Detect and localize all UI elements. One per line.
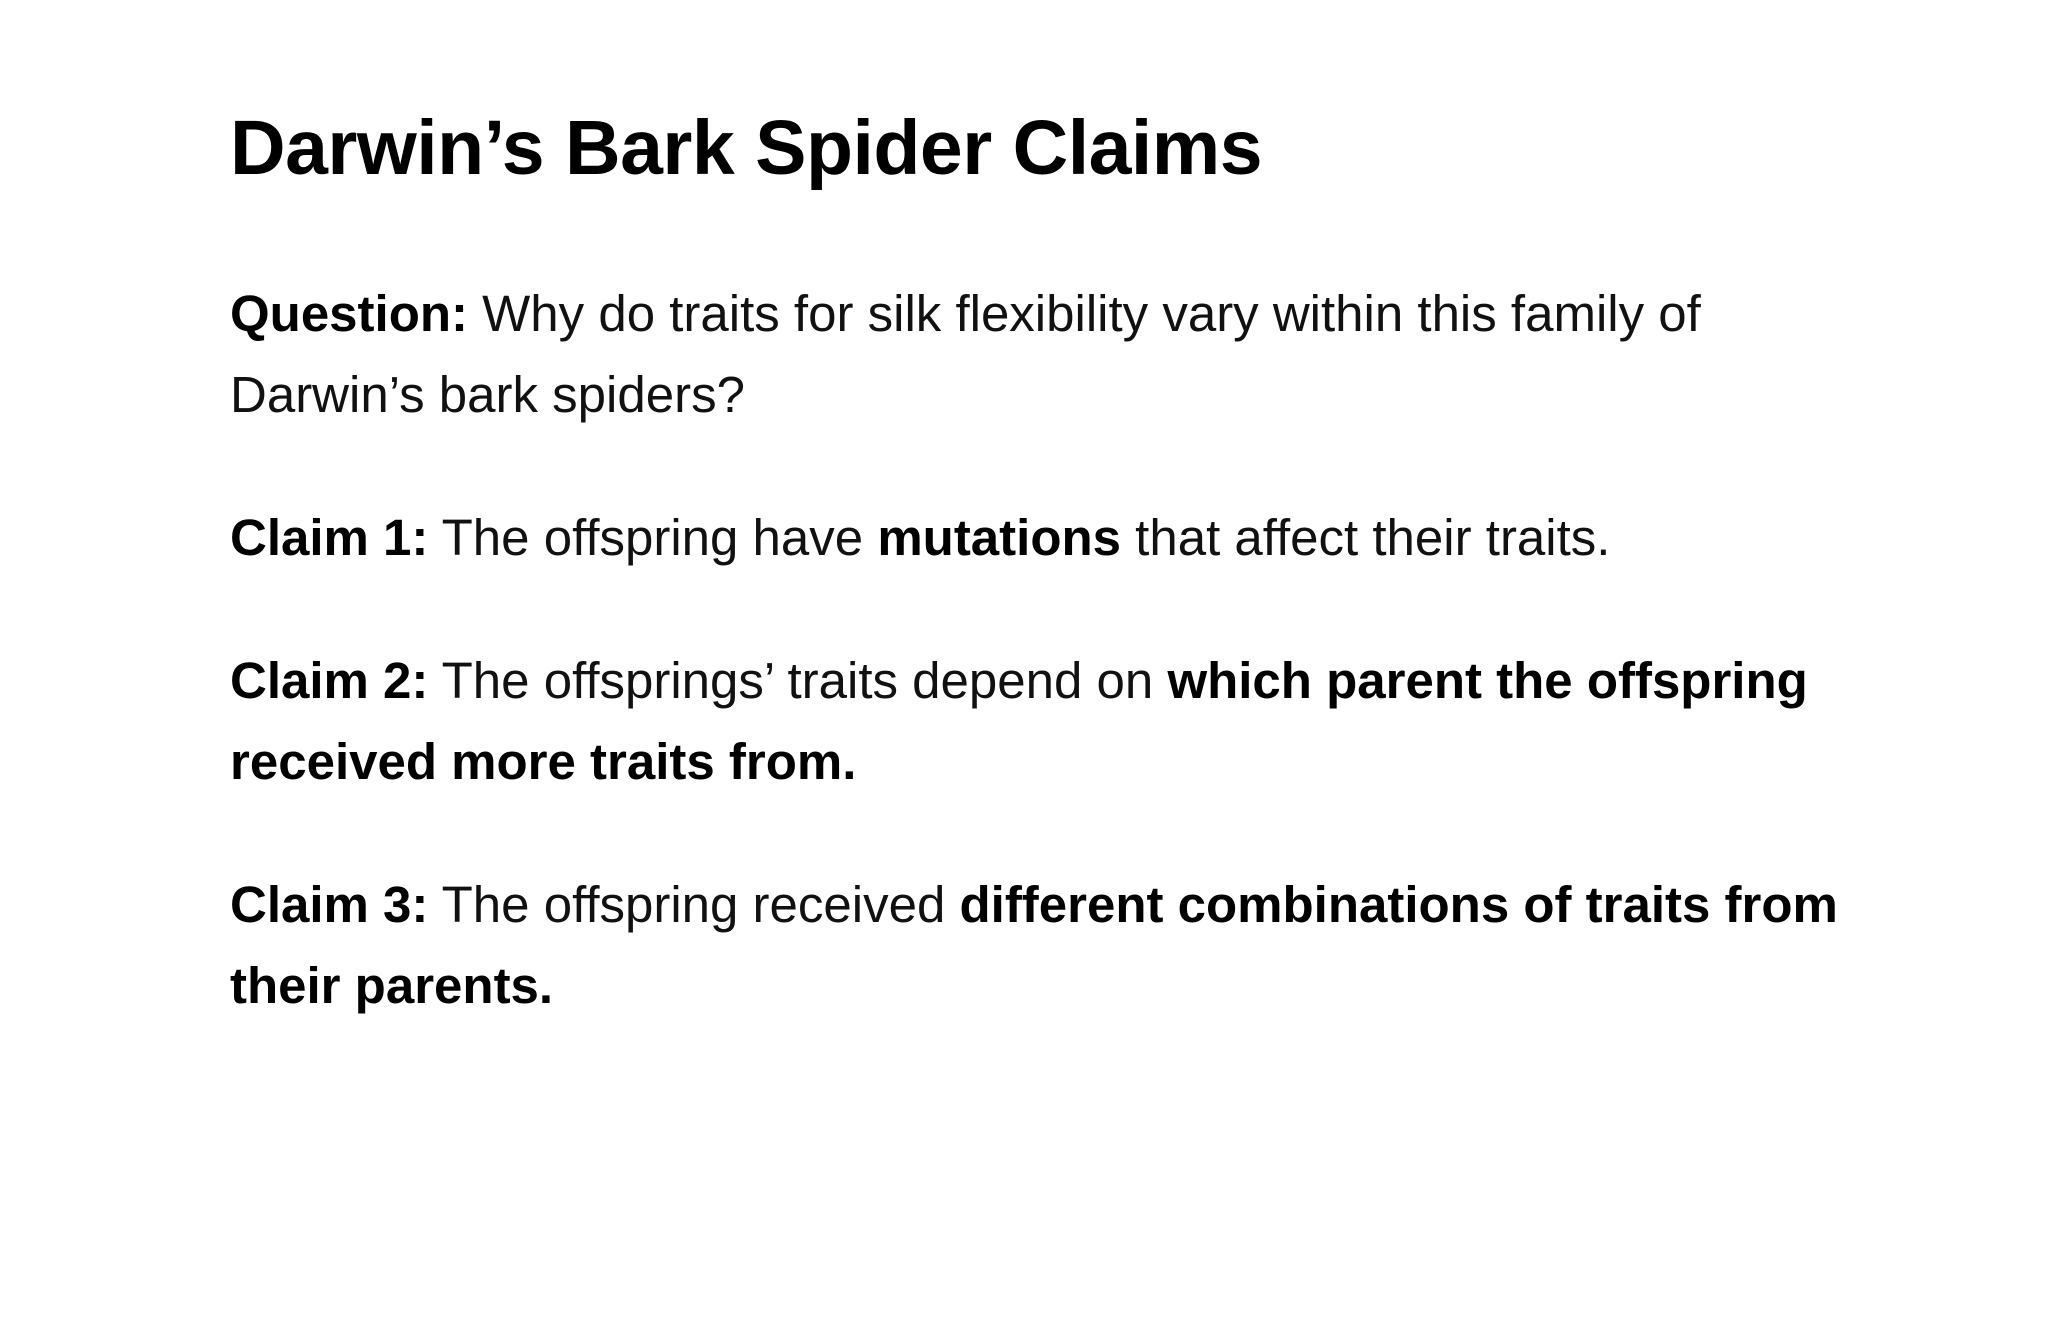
question-label: Question:: [230, 285, 468, 342]
claim-1-paragraph: Claim 1: The offspring have mutations th…: [230, 497, 1870, 578]
claim-3-label: Claim 3:: [230, 876, 428, 933]
page-title: Darwin’s Bark Spider Claims: [230, 0, 1870, 189]
claim-3-text-before: The offspring received: [428, 876, 959, 933]
claim-1-emphasis: mutations: [877, 509, 1121, 566]
claim-3-paragraph: Claim 3: The offspring received differen…: [230, 864, 1870, 1026]
claim-1-label: Claim 1:: [230, 509, 428, 566]
content-body: Question: Why do traits for silk flexibi…: [230, 273, 1870, 1026]
slide-canvas: Darwin’s Bark Spider Claims Question: Wh…: [0, 0, 2048, 1340]
claim-1-text-after: that affect their traits.: [1121, 509, 1610, 566]
claim-2-label: Claim 2:: [230, 652, 428, 709]
question-paragraph: Question: Why do traits for silk flexibi…: [230, 273, 1870, 435]
claim-2-text-before: The offsprings’ traits depend on: [428, 652, 1167, 709]
claim-1-text-before: The offspring have: [428, 509, 877, 566]
claim-2-paragraph: Claim 2: The offsprings’ traits depend o…: [230, 640, 1870, 802]
